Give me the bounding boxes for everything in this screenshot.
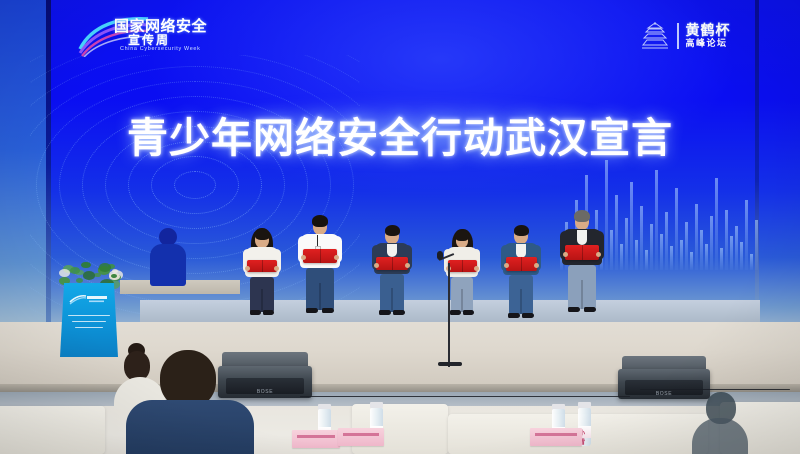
name-card	[338, 428, 384, 446]
name-card-text	[535, 433, 577, 436]
shoe-left	[379, 310, 391, 315]
skyline-bar	[675, 188, 678, 270]
skyline-bar	[755, 220, 758, 270]
leg-gap	[319, 283, 321, 310]
red-folder	[247, 260, 277, 272]
speaker-brand-label: BOSE	[656, 391, 672, 397]
flower-element	[59, 269, 70, 277]
hand-right	[405, 263, 410, 268]
skyline-bar	[625, 218, 628, 270]
hand-right	[474, 266, 479, 271]
sofa-left	[0, 406, 105, 454]
hair-top	[514, 225, 529, 236]
skyline-bar	[615, 195, 618, 270]
huanghe-cup-logo: 黄鹤杯 高峰论坛	[640, 16, 765, 56]
hand-left	[504, 263, 509, 268]
speaker-5	[503, 222, 539, 332]
podium-text-line	[72, 321, 106, 322]
mic-pole	[448, 263, 450, 367]
skyline-bar	[745, 200, 748, 270]
skyline-bar	[700, 230, 703, 270]
red-folder	[303, 249, 337, 263]
skyline-bar	[710, 216, 713, 270]
event-photo-frame: 国家网络安全 宣传周 China Cybersecurity Week 黄鹤杯 …	[0, 0, 800, 454]
hair-top	[255, 229, 270, 240]
skyline-bar	[735, 226, 738, 270]
name-card	[530, 428, 582, 446]
audience-member-back-view	[140, 350, 240, 454]
hand-left	[563, 252, 568, 257]
leg-gap	[261, 289, 263, 312]
skyline-bar	[730, 236, 733, 270]
logo-right-line2: 高峰论坛	[686, 40, 731, 49]
name-card	[292, 430, 340, 448]
china-cybersecurity-week-logo: 国家网络安全 宣传周 China Cybersecurity Week	[78, 13, 206, 59]
inner-shirt	[577, 230, 587, 245]
podium-logo-icon	[69, 294, 109, 305]
hair-top	[574, 210, 590, 222]
pagoda-icon	[640, 21, 670, 51]
name-card-text	[343, 433, 380, 436]
leg-gap	[520, 289, 522, 314]
skyline-bar	[645, 250, 648, 270]
hair-top	[455, 230, 469, 241]
speaking-podium	[60, 283, 118, 357]
shoe-left	[568, 307, 581, 312]
flower-element	[70, 267, 80, 274]
speaker-brand-label: BOSE	[257, 389, 273, 395]
inner-shirt	[516, 244, 526, 258]
hand-right	[274, 266, 279, 271]
skyline-bar	[715, 178, 718, 270]
skyline-bar	[680, 240, 683, 270]
shoe-left	[250, 310, 261, 315]
inner-shirt	[387, 244, 397, 257]
skyline-bar	[740, 242, 743, 270]
logo-divider	[677, 23, 679, 49]
skyline-bar	[610, 230, 613, 270]
hand-left	[245, 266, 250, 271]
backdrop-main-title: 青少年网络安全行动武汉宣言	[0, 104, 800, 164]
seated-person-silhouette	[150, 228, 186, 286]
skyline-bar	[705, 244, 708, 270]
skyline-bar	[665, 212, 668, 270]
speaker-1	[245, 226, 279, 330]
flower-element	[83, 271, 96, 280]
speaker-2	[300, 212, 340, 326]
skyline-bar	[640, 206, 643, 270]
silhouette-body	[150, 244, 186, 286]
skyline-bar	[635, 240, 638, 270]
skyline-bar	[725, 210, 728, 270]
audience-member-right	[692, 392, 746, 454]
logo-right-line1: 黄鹤杯	[686, 24, 731, 38]
skyline-bar	[685, 222, 688, 270]
audience-body	[692, 418, 748, 454]
skyline-bar	[670, 246, 673, 270]
skyline-bar	[630, 182, 633, 270]
hand-right	[534, 263, 539, 268]
name-card-text	[297, 435, 335, 438]
podium-text-line	[75, 327, 103, 328]
logo-left-english: China Cybersecurity Week	[120, 46, 201, 52]
shoe-left	[508, 313, 520, 318]
microphone-icon	[437, 251, 443, 260]
leg-gap	[391, 288, 393, 313]
flower-element	[99, 263, 111, 272]
shoe-left	[306, 308, 319, 313]
hand-right	[596, 252, 601, 257]
podium-text-line	[68, 315, 110, 316]
speaker-3	[374, 222, 410, 330]
skyline-bar	[655, 170, 658, 270]
red-folder	[565, 245, 599, 260]
skyline-bar	[720, 248, 723, 270]
red-folder	[376, 257, 408, 270]
microphone-stand	[437, 247, 463, 367]
shoe-right	[463, 310, 473, 315]
skyline-bar	[690, 252, 693, 270]
shoe-right	[584, 307, 597, 312]
flower-element	[81, 262, 90, 268]
shoe-right	[322, 308, 335, 313]
skyline-bar	[695, 204, 698, 270]
shoe-right	[263, 310, 274, 315]
red-folder	[506, 257, 537, 271]
shoe-right	[393, 310, 405, 315]
audience-body	[126, 400, 254, 454]
leg-gap	[581, 280, 583, 308]
flower-arrangement	[58, 255, 120, 287]
hand-left	[374, 263, 379, 268]
skyline-bar	[620, 244, 623, 270]
speaker-6	[562, 207, 602, 325]
hair-top	[385, 225, 400, 236]
skyline-bar	[750, 254, 753, 270]
mic-base	[438, 362, 462, 366]
skyline-bar	[605, 160, 608, 270]
skyline-bar	[660, 234, 663, 270]
hair-top	[312, 215, 328, 227]
skyline-bar	[650, 224, 653, 270]
shoe-right	[522, 313, 534, 318]
